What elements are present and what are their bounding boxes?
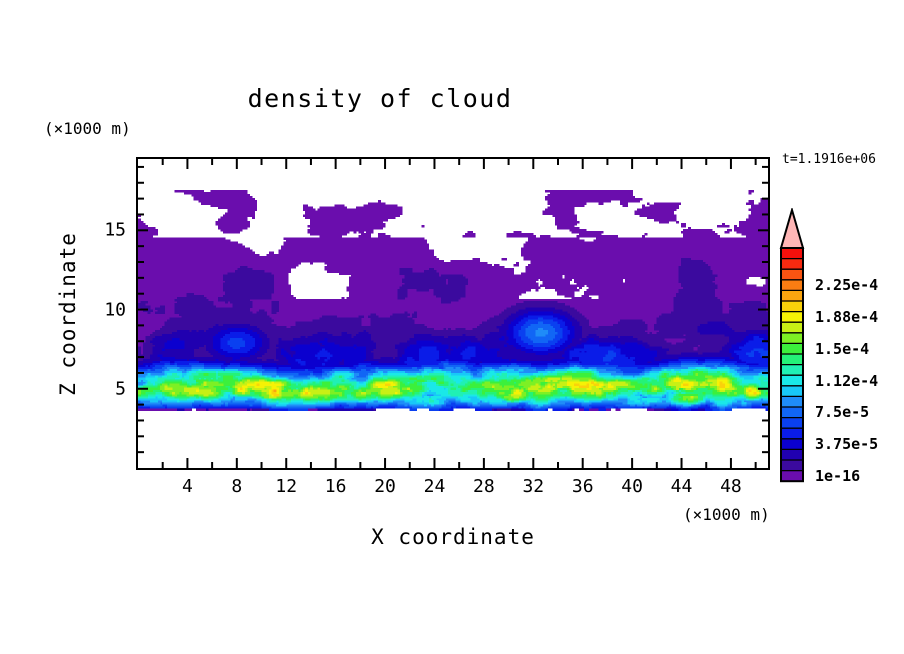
colorbar: 2.25e-41.88e-41.5e-41.12e-47.5e-53.75e-5… [779, 208, 805, 487]
colorbar-band [781, 312, 803, 323]
plot-area [136, 157, 770, 470]
colorbar-band [781, 248, 803, 259]
colorbar-over-arrow [781, 210, 803, 248]
figure-canvas: density of cloud t=1.1916e+06 (×1000 m) … [0, 0, 904, 654]
y-axis-unit-label: (×1000 m) [44, 119, 131, 138]
colorbar-band [781, 375, 803, 386]
colorbar-tick-label: 1.12e-4 [815, 372, 878, 390]
colorbar-tick-label: 1.5e-4 [815, 340, 869, 358]
x-tick-label: 36 [572, 476, 594, 497]
x-tick-label: 20 [374, 476, 396, 497]
time-annotation: t=1.1916e+06 [782, 152, 876, 167]
colorbar-band [781, 280, 803, 291]
x-tick-label: 40 [621, 476, 643, 497]
contour-band [274, 390, 277, 393]
colorbar-band [781, 471, 803, 482]
colorbar-tick-label: 2.25e-4 [815, 276, 878, 294]
y-tick-label: 5 [90, 378, 126, 399]
y-tick-label: 15 [90, 220, 126, 241]
x-tick-label: 32 [522, 476, 544, 497]
colorbar-band [781, 290, 803, 301]
colorbar-tick-label: 3.75e-5 [815, 435, 878, 453]
x-tick-label: 44 [671, 476, 693, 497]
colorbar-band [781, 301, 803, 312]
x-tick-label: 24 [424, 476, 446, 497]
colorbar-band [781, 343, 803, 354]
x-tick-label: 48 [720, 476, 742, 497]
colorbar-band [781, 407, 803, 418]
colorbar-tick-label: 1.88e-4 [815, 308, 878, 326]
x-axis-unit-label: (×1000 m) [683, 505, 770, 524]
colorbar-band [781, 418, 803, 429]
x-axis-title: X coordinate [136, 525, 770, 549]
colorbar-band [781, 449, 803, 460]
colorbar-band [781, 428, 803, 439]
y-tick-label: 10 [90, 299, 126, 320]
y-axis-title: Z coordinate [56, 224, 80, 404]
colorbar-band [781, 365, 803, 376]
x-tick-label: 12 [275, 476, 297, 497]
colorbar-tick-label: 1e-16 [815, 467, 860, 485]
colorbar-band [781, 386, 803, 397]
colorbar-tick-label: 7.5e-5 [815, 403, 869, 421]
colorbar-band [781, 269, 803, 280]
x-tick-label: 16 [325, 476, 347, 497]
x-tick-label: 28 [473, 476, 495, 497]
colorbar-band [781, 333, 803, 344]
colorbar-band [781, 354, 803, 365]
x-tick-label: 4 [182, 476, 193, 497]
colorbar-band [781, 439, 803, 450]
contour-field [138, 159, 768, 468]
page-title: density of cloud [0, 84, 760, 113]
colorbar-band [781, 322, 803, 333]
colorbar-scale [779, 208, 805, 483]
colorbar-band [781, 460, 803, 471]
x-tick-label: 8 [231, 476, 242, 497]
colorbar-band [781, 259, 803, 270]
colorbar-band [781, 396, 803, 407]
